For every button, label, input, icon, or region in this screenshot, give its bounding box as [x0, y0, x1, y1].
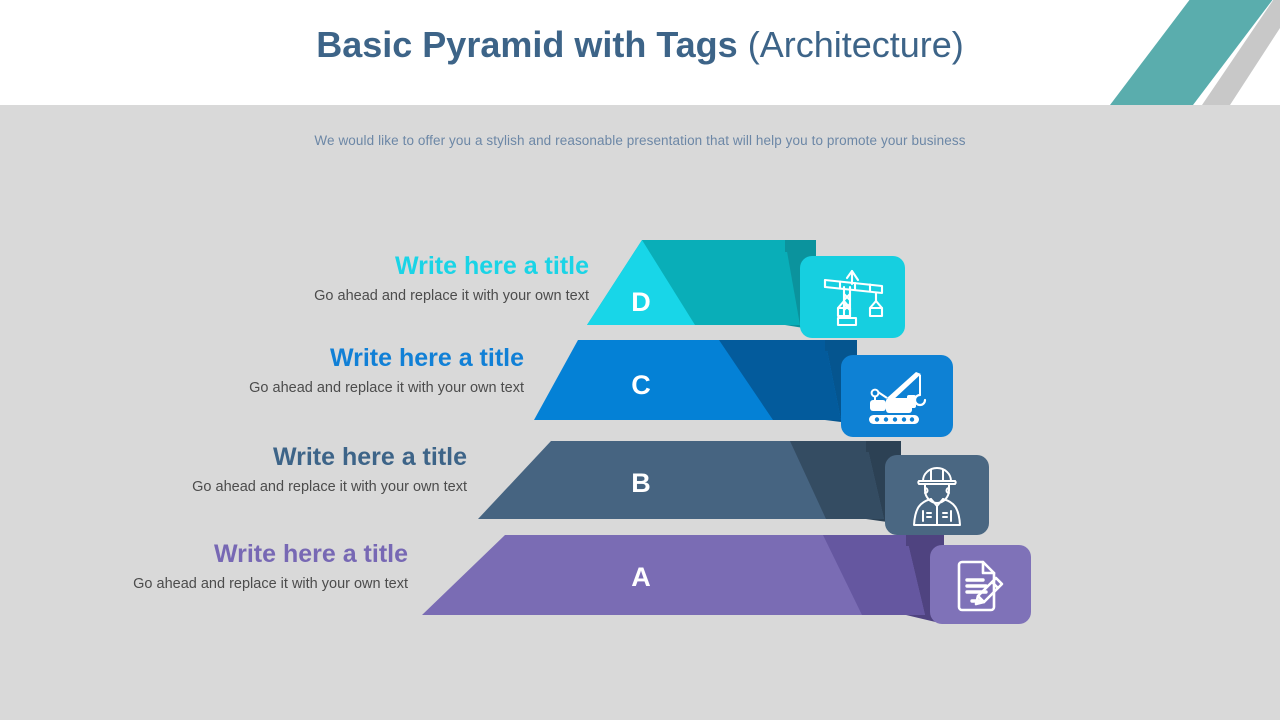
tier-d-text-block: Write here a title Go ahead and replace …	[0, 253, 589, 305]
tier-c-letter: C	[631, 370, 651, 400]
tier-b-description: Go ahead and replace it with your own te…	[0, 480, 467, 496]
pyramid-tier-d[interactable]	[587, 240, 816, 330]
tier-c-title: Write here a title	[0, 345, 524, 371]
tier-b-text-block: Write here a title Go ahead and replace …	[0, 444, 467, 496]
slide-canvas: Basic Pyramid with Tags (Architecture) W…	[0, 0, 1280, 720]
page-title-bold: Basic Pyramid with Tags	[316, 24, 747, 65]
tier-a-notch	[906, 535, 944, 546]
tier-d-description: Go ahead and replace it with your own te…	[0, 289, 589, 305]
tier-a-text-block: Write here a title Go ahead and replace …	[0, 541, 408, 593]
tier-a-letter: A	[631, 562, 651, 592]
tier-d-notch	[785, 240, 816, 252]
pyramid-tier-a[interactable]	[422, 535, 944, 624]
page-title: Basic Pyramid with Tags (Architecture)	[0, 27, 1280, 63]
tier-b-title: Write here a title	[0, 444, 467, 470]
pyramid-tier-b[interactable]	[478, 441, 901, 524]
tier-c-notch	[825, 340, 857, 351]
page-title-regular: (Architecture)	[748, 24, 964, 65]
subtitle: We would like to offer you a stylish and…	[0, 133, 1280, 148]
tier-c-description: Go ahead and replace it with your own te…	[0, 381, 524, 397]
tier-b-letter: B	[631, 468, 651, 498]
tier-d-title: Write here a title	[0, 253, 589, 279]
tier-d-letter: D	[631, 287, 651, 317]
tier-a-title: Write here a title	[0, 541, 408, 567]
pyramid-tier-c[interactable]	[534, 340, 857, 424]
tier-a-description: Go ahead and replace it with your own te…	[0, 577, 408, 593]
tier-b-notch	[866, 441, 901, 452]
tier-c-text-block: Write here a title Go ahead and replace …	[0, 345, 524, 397]
